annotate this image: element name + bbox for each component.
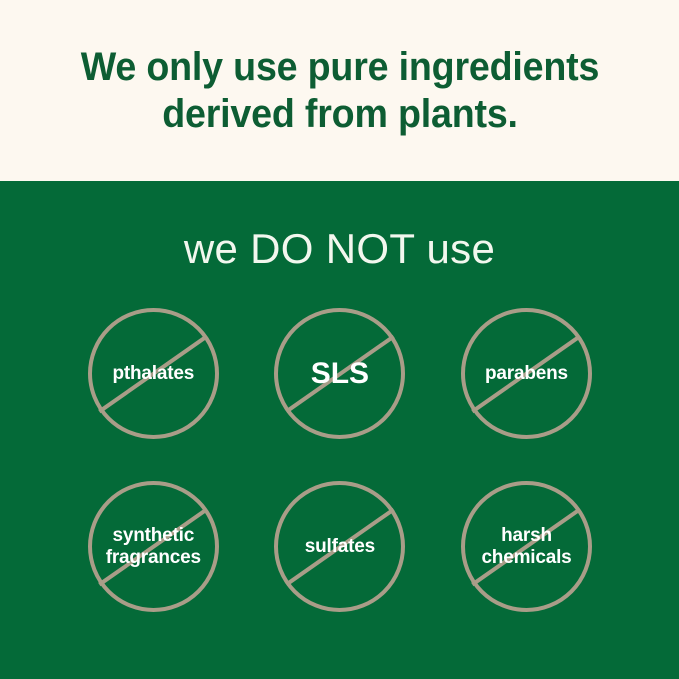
promise-banner: We only use pure ingredients derived fro… — [0, 0, 679, 181]
prohibition-icon: synthetic fragrances — [88, 481, 219, 612]
exclusion-badge-sls: SLS — [247, 308, 434, 439]
prohibition-icon: harsh chemicals — [461, 481, 592, 612]
exclusions-panel: we DO NOT use pthalates SLS — [0, 181, 679, 679]
prohibition-icon: parabens — [461, 308, 592, 439]
exclusions-title: we DO NOT use — [0, 225, 679, 273]
exclusion-badge-parabens: parabens — [433, 308, 620, 439]
ingredient-promise-poster: We only use pure ingredients derived fro… — [0, 0, 679, 679]
promise-headline: We only use pure ingredients derived fro… — [48, 44, 631, 138]
prohibition-icon: sulfates — [274, 481, 405, 612]
prohibition-icon: SLS — [274, 308, 405, 439]
exclusion-badge-pthalates: pthalates — [60, 308, 247, 439]
prohibition-icon: pthalates — [88, 308, 219, 439]
promise-headline-line-2: derived from plants. — [48, 91, 631, 138]
exclusion-badge-harsh-chemicals: harsh chemicals — [433, 481, 620, 612]
exclusion-badge-sulfates: sulfates — [247, 481, 434, 612]
promise-headline-line-1: We only use pure ingredients — [48, 44, 631, 91]
exclusion-badge-synthetic-fragrances: synthetic fragrances — [60, 481, 247, 612]
exclusions-badge-grid: pthalates SLS parabens — [60, 308, 620, 612]
